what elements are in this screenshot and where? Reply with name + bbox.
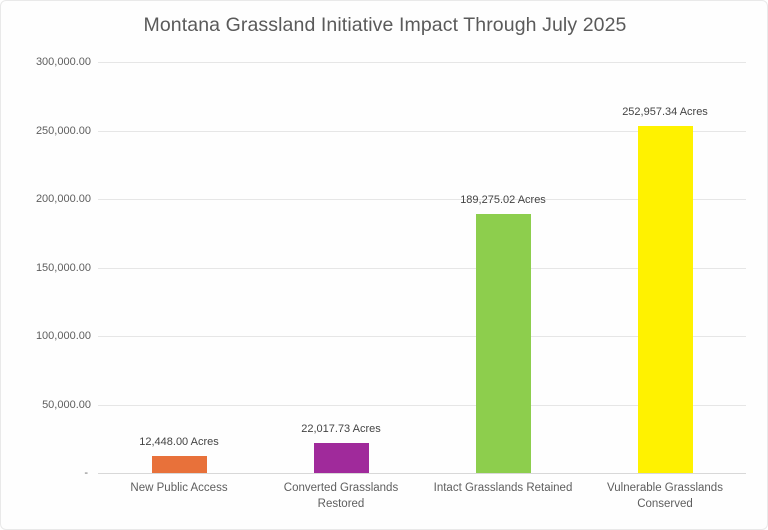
y-axis: -50,000.00100,000.00150,000.00200,000.00… — [1, 1, 91, 530]
x-axis-category-label: New Public Access — [104, 480, 254, 496]
bar[interactable] — [314, 443, 369, 473]
plot-area: 12,448.00 Acres22,017.73 Acres189,275.02… — [98, 62, 746, 473]
gridline — [98, 62, 746, 63]
bar[interactable] — [638, 126, 693, 473]
x-axis-category-label: Vulnerable Grasslands Conserved — [590, 480, 740, 512]
x-axis: New Public AccessConverted Grasslands Re… — [98, 480, 746, 530]
y-axis-tick-label: 50,000.00 — [1, 399, 91, 411]
y-axis-tick-label: 150,000.00 — [1, 262, 91, 274]
y-axis-tick-label: - — [0, 467, 91, 479]
bar-value-label: 189,275.02 Acres — [460, 194, 546, 206]
gridline — [98, 473, 746, 474]
chart-title: Montana Grassland Initiative Impact Thro… — [1, 14, 768, 37]
y-axis-tick-label: 100,000.00 — [1, 330, 91, 342]
y-axis-tick-label: 200,000.00 — [1, 193, 91, 205]
bar-value-label: 252,957.34 Acres — [622, 106, 708, 118]
bar-value-label: 12,448.00 Acres — [139, 436, 219, 448]
bar[interactable] — [152, 456, 207, 473]
bar-value-label: 22,017.73 Acres — [301, 423, 381, 435]
y-axis-tick-label: 250,000.00 — [1, 125, 91, 137]
bar[interactable] — [476, 214, 531, 473]
x-axis-category-label: Converted Grasslands Restored — [266, 480, 416, 512]
y-axis-tick-label: 300,000.00 — [1, 56, 91, 68]
x-axis-category-label: Intact Grasslands Retained — [428, 480, 578, 496]
chart-card: Montana Grassland Initiative Impact Thro… — [0, 0, 768, 530]
